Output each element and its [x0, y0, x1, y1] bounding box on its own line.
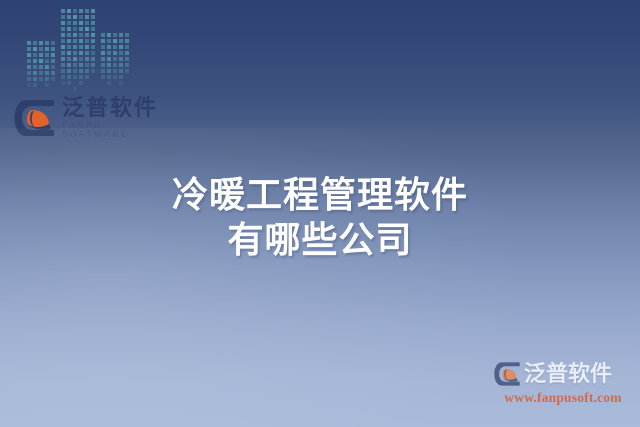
brand-name-cn: 泛普软件: [62, 97, 170, 119]
watermark-url: www.fanpusoft.com: [494, 390, 632, 406]
watermark: 泛普软件 www.fanpusoft.com: [494, 359, 632, 409]
page-title-line-1: 冷暖工程管理软件: [0, 172, 640, 217]
watermark-logo: 泛普软件: [494, 359, 632, 389]
fanpu-logo-mark-icon: [494, 361, 521, 387]
page-title-line-2: 有哪些公司: [0, 217, 640, 262]
brand-logo: 泛普软件 FANPU SOFTWARE: [14, 96, 170, 140]
pixel-city-skyline-icon: [26, 0, 150, 96]
fanpu-logo-mark-icon: [14, 99, 56, 137]
brand-name-en: FANPU SOFTWARE: [62, 122, 170, 138]
brand-wordmark: 泛普软件 FANPU SOFTWARE: [62, 97, 170, 138]
page-title: 冷暖工程管理软件 有哪些公司: [0, 172, 640, 262]
promo-banner: 泛普软件 FANPU SOFTWARE 冷暖工程管理软件 有哪些公司 泛普软件 …: [0, 0, 640, 427]
watermark-name-cn: 泛普软件: [524, 363, 612, 385]
